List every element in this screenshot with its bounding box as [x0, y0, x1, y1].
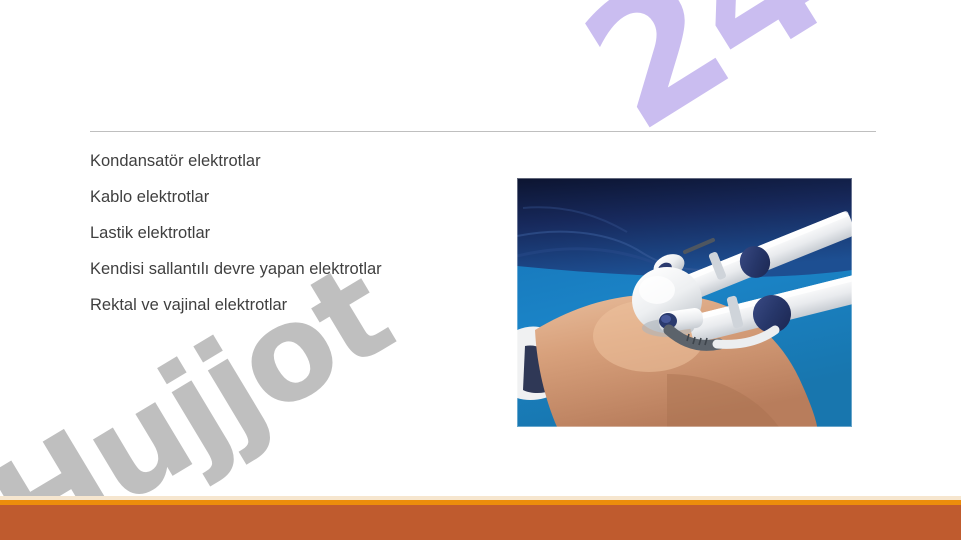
- bullet-item-4: Kendisi sallantılı devre yapan elektrotl…: [90, 251, 450, 287]
- slide-canvas: 24 Hujjot Kondansatör elektrotlar Kablo …: [0, 0, 961, 540]
- diathermy-photo-illustration: [517, 178, 852, 427]
- watermark-24-text: 24: [560, 0, 849, 158]
- bullet-item-3: Lastik elektrotlar: [90, 215, 450, 251]
- bullet-item-1: Kondansatör elektrotlar: [90, 143, 450, 179]
- footer-bar-brown: [0, 505, 961, 540]
- bullet-list: Kondansatör elektrotlar Kablo elektrotla…: [90, 143, 450, 323]
- title-divider: [90, 131, 876, 132]
- bullet-item-5: Rektal ve vajinal elektrotlar: [90, 287, 450, 323]
- diathermy-photo: [517, 178, 852, 427]
- bullet-item-2: Kablo elektrotlar: [90, 179, 450, 215]
